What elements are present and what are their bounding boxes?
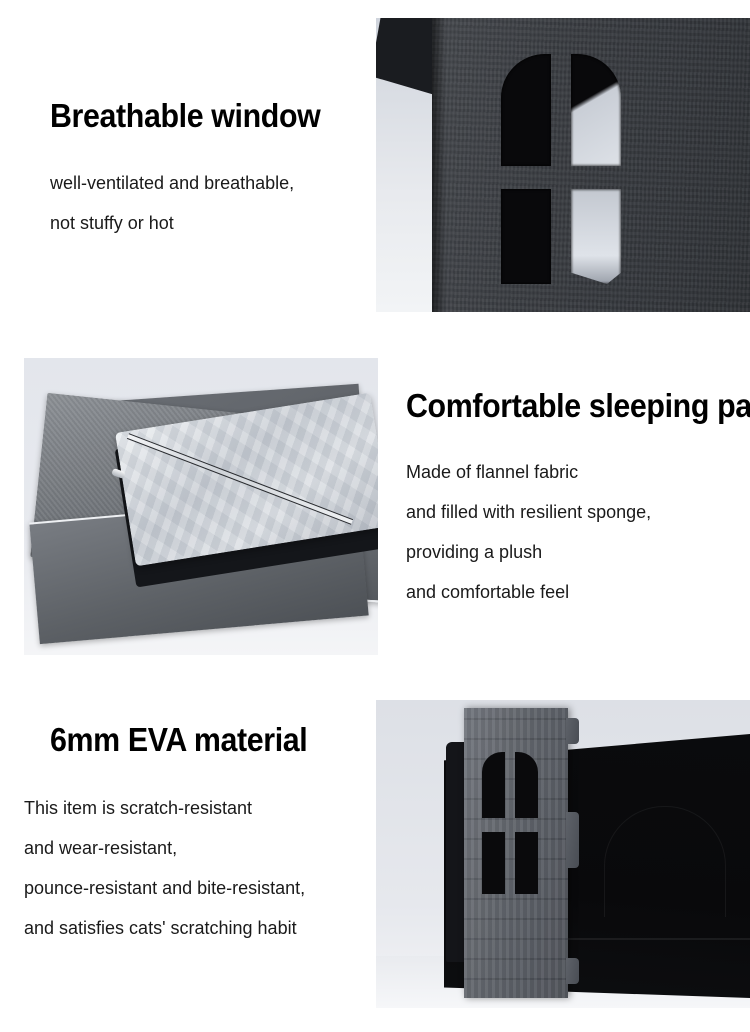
window-pane-bottom-right (515, 832, 538, 894)
body-line: This item is scratch-resistant (24, 788, 305, 828)
body-line: providing a plush (406, 532, 651, 572)
interior-arch-outline (604, 806, 726, 917)
window-pane-top-right (571, 54, 621, 166)
arched-window-cutout (501, 54, 621, 284)
body-line: and satisfies cats' scratching habit (24, 908, 305, 948)
breathable-window-photo (376, 18, 750, 312)
section-heading-breathable-window: Breathable window (50, 98, 320, 134)
wall-edge-shadow (432, 18, 446, 312)
section-body-sleeping-pad: Made of flannel fabric and filled with r… (406, 452, 651, 612)
section-heading-eva-material: 6mm EVA material (50, 722, 307, 758)
section-body-breathable-window: well-ventilated and breathable, not stuf… (50, 163, 294, 243)
section-body-eva-material: This item is scratch-resistant and wear-… (24, 788, 305, 948)
window-pane-bottom-left (501, 189, 551, 284)
body-line: not stuffy or hot (50, 203, 294, 243)
eva-panel-photo (376, 700, 750, 1008)
body-line: and wear-resistant, (24, 828, 305, 868)
window-pane-bottom-right (571, 189, 621, 284)
eva-side-panel (464, 708, 568, 998)
window-pane-bottom-left (482, 832, 505, 894)
body-line: and comfortable feel (406, 572, 651, 612)
panel-connector-tab (566, 958, 579, 984)
window-pane-top-left (482, 752, 505, 818)
body-line: Made of flannel fabric (406, 452, 651, 492)
body-line: pounce-resistant and bite-resistant, (24, 868, 305, 908)
window-pane-top-right (515, 752, 538, 818)
panel-connector-tab (566, 812, 579, 868)
body-line: and filled with resilient sponge, (406, 492, 651, 532)
arched-window-cutout (482, 752, 540, 894)
sleeping-pad-photo (24, 358, 378, 655)
section-heading-sleeping-pad: Comfortable sleeping pad (406, 388, 750, 424)
panel-connector-tab (566, 718, 579, 744)
body-line: well-ventilated and breathable, (50, 163, 294, 203)
window-pane-top-left (501, 54, 551, 166)
